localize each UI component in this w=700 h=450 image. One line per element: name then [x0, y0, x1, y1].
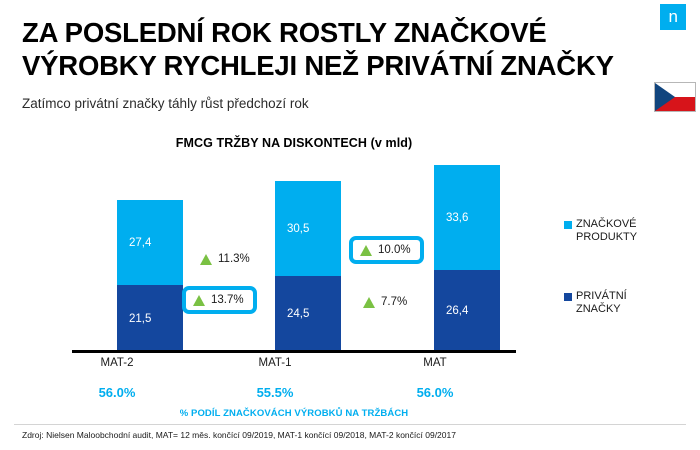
czech-republic-flag-icon	[654, 82, 696, 112]
growth-annotation-branded-mat-1: 10.0%	[349, 236, 424, 264]
chart-x-axis	[72, 350, 516, 353]
page-title: ZA POSLEDNÍ ROK ROSTLY ZNAČKOVÉ VÝROBKY …	[22, 16, 652, 82]
footer-divider	[14, 424, 686, 425]
x-tick-label-mat: MAT	[375, 357, 495, 369]
bar-value-branded-mat-1: 30,5	[287, 223, 309, 235]
up-triangle-icon	[360, 245, 372, 256]
bar-mat-2: 27,4 21,5	[117, 200, 183, 352]
bar-segment-private-mat: 26,4	[434, 270, 500, 352]
page-subtitle: Zatímco privátní značky táhly růst předc…	[22, 96, 309, 111]
flag-blue-triangle	[655, 83, 675, 111]
bar-segment-branded-mat: 33,6	[434, 165, 500, 270]
growth-value-private-mat-2: 13.7%	[211, 294, 244, 306]
x-tick-label-mat-2: MAT-2	[57, 357, 177, 369]
growth-annotation-private-mat-1: 7.7%	[363, 296, 407, 308]
growth-value-private-mat-1: 7.7%	[381, 296, 407, 308]
growth-value-branded-mat-2: 11.3%	[218, 253, 250, 265]
legend-label-branded: ZNAČKOVÉ PRODUKTY	[576, 218, 637, 244]
x-tick-label-mat-1: MAT-1	[215, 357, 335, 369]
legend-item-branded[interactable]: ZNAČKOVÉ PRODUKTY	[564, 218, 694, 244]
bar-segment-private-mat-2: 21,5	[117, 285, 183, 352]
bar-segment-branded-mat-2: 27,4	[117, 200, 183, 285]
growth-annotation-private-mat-2: 13.7%	[182, 286, 257, 314]
bar-value-private-mat-1: 24,5	[287, 308, 309, 320]
legend-item-private[interactable]: PRIVÁTNÍ ZNAČKY	[564, 290, 694, 316]
share-value-mat-2: 56.0%	[57, 385, 177, 400]
bar-segment-private-mat-1: 24,5	[275, 276, 341, 352]
bar-value-branded-mat-2: 27,4	[129, 237, 151, 249]
bar-segment-branded-mat-1: 30,5	[275, 181, 341, 276]
legend-swatch-branded	[564, 221, 572, 229]
chart-legend: ZNAČKOVÉ PRODUKTY PRIVÁTNÍ ZNAČKY	[564, 218, 694, 362]
legend-swatch-private	[564, 293, 572, 301]
up-triangle-icon	[193, 295, 205, 306]
growth-annotation-branded-mat-2: 11.3%	[200, 253, 250, 265]
up-triangle-icon	[363, 297, 375, 308]
source-note: Zdroj: Nielsen Maloobchodní audit, MAT= …	[22, 430, 456, 440]
bar-value-branded-mat: 33,6	[446, 212, 468, 224]
bar-value-private-mat-2: 21,5	[129, 313, 151, 325]
share-value-mat: 56.0%	[375, 385, 495, 400]
legend-label-private: PRIVÁTNÍ ZNAČKY	[576, 290, 627, 316]
chart-plot-area: 27,4 21,5 30,5 24,5 33,6 26,4 11.3% 13.7…	[72, 160, 516, 352]
chart-title: FMCG TRŽBY NA DISKONTECH (v mld)	[72, 136, 516, 150]
share-value-mat-1: 55.5%	[215, 385, 335, 400]
bar-mat-1: 30,5 24,5	[275, 181, 341, 352]
bar-value-private-mat: 26,4	[446, 305, 468, 317]
share-caption: % PODÍL ZNAČKOVÁCH VÝROBKŮ NA TRŽBÁCH	[72, 408, 516, 419]
bar-mat: 33,6 26,4	[434, 165, 500, 352]
nielsen-logo: n	[660, 4, 686, 30]
up-triangle-icon	[200, 254, 212, 265]
growth-value-branded-mat-1: 10.0%	[378, 244, 411, 256]
